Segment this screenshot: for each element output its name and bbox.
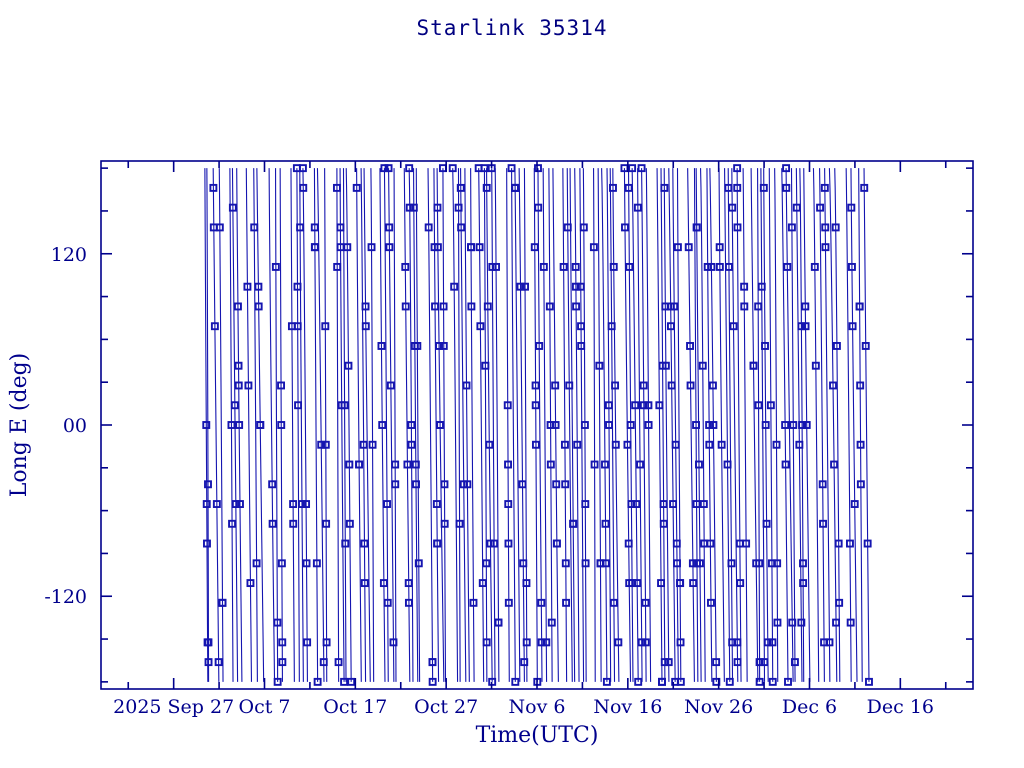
series-trace bbox=[303, 168, 308, 682]
series-trace bbox=[297, 168, 299, 682]
series-trace bbox=[300, 168, 304, 682]
series-trace bbox=[758, 168, 760, 682]
y-tick-labels: 12000-120 bbox=[44, 244, 87, 608]
x-axis-title: Time(UTC) bbox=[476, 723, 599, 748]
series-trace bbox=[394, 168, 396, 682]
chart-page: Starlink 35314 2025 Sep 27Oct 7Oct 17Oct… bbox=[0, 0, 1024, 768]
series-trace bbox=[515, 168, 520, 682]
series-trace bbox=[664, 168, 669, 682]
series-trace bbox=[594, 168, 596, 682]
y-axis-title: Long E (deg) bbox=[7, 353, 32, 498]
y-tick-label: 120 bbox=[51, 244, 87, 266]
series-trace bbox=[864, 168, 869, 682]
series-trace bbox=[732, 168, 738, 682]
x-tick-label: Nov 6 bbox=[509, 696, 566, 718]
series-trace bbox=[751, 168, 758, 682]
series-trace bbox=[549, 168, 552, 682]
series-trace bbox=[495, 168, 499, 682]
series-trace bbox=[357, 168, 362, 682]
series-trace bbox=[291, 168, 294, 682]
series-trace bbox=[813, 168, 818, 682]
series-trace bbox=[775, 168, 778, 682]
series-trace bbox=[507, 168, 510, 682]
series-trace bbox=[492, 168, 495, 682]
series-trace bbox=[453, 168, 458, 682]
x-tick-label: Dec 16 bbox=[867, 696, 934, 718]
x-tick-label: Nov 16 bbox=[593, 696, 662, 718]
series-trace bbox=[737, 168, 741, 682]
series-trace bbox=[701, 168, 706, 682]
series-trace bbox=[570, 168, 575, 682]
series-trace bbox=[246, 168, 251, 682]
series-trace bbox=[280, 168, 282, 682]
series-trace bbox=[269, 168, 274, 682]
data-marker bbox=[509, 165, 515, 171]
x-tick-labels: 2025 Sep 27Oct 7Oct 17Oct 27Nov 6Nov 16N… bbox=[113, 696, 934, 718]
series-trace bbox=[524, 168, 526, 682]
x-tick-label: Nov 26 bbox=[684, 696, 753, 718]
series-trace bbox=[458, 168, 460, 682]
series-trace bbox=[213, 168, 219, 682]
x-tick-label: Dec 6 bbox=[782, 696, 837, 718]
series-trace bbox=[237, 168, 242, 682]
series-trace bbox=[583, 168, 586, 682]
series-trace bbox=[575, 168, 579, 682]
series-trace bbox=[371, 168, 374, 682]
series-trace bbox=[487, 168, 493, 682]
y-tick-label: 00 bbox=[63, 415, 87, 437]
series-trace bbox=[769, 168, 772, 682]
longitude-vs-time-plot: 2025 Sep 27Oct 7Oct 17Oct 27Nov 6Nov 16N… bbox=[0, 0, 1024, 768]
series-trace bbox=[230, 168, 233, 682]
series-trace bbox=[484, 168, 486, 682]
series-trace bbox=[638, 168, 642, 682]
series-trace bbox=[598, 168, 601, 682]
series-trace bbox=[519, 168, 524, 682]
x-tick-label: Oct 7 bbox=[239, 696, 291, 718]
series-trace bbox=[846, 168, 851, 682]
y-tick-label: -120 bbox=[44, 586, 87, 608]
series-trace bbox=[851, 168, 857, 682]
series-trace bbox=[743, 168, 747, 682]
x-tick-label: 2025 Sep 27 bbox=[113, 696, 234, 718]
series-trace bbox=[325, 168, 327, 682]
series-trace bbox=[859, 168, 863, 682]
x-tick-label: Oct 17 bbox=[323, 696, 387, 718]
x-tick-label: Oct 27 bbox=[414, 696, 478, 718]
